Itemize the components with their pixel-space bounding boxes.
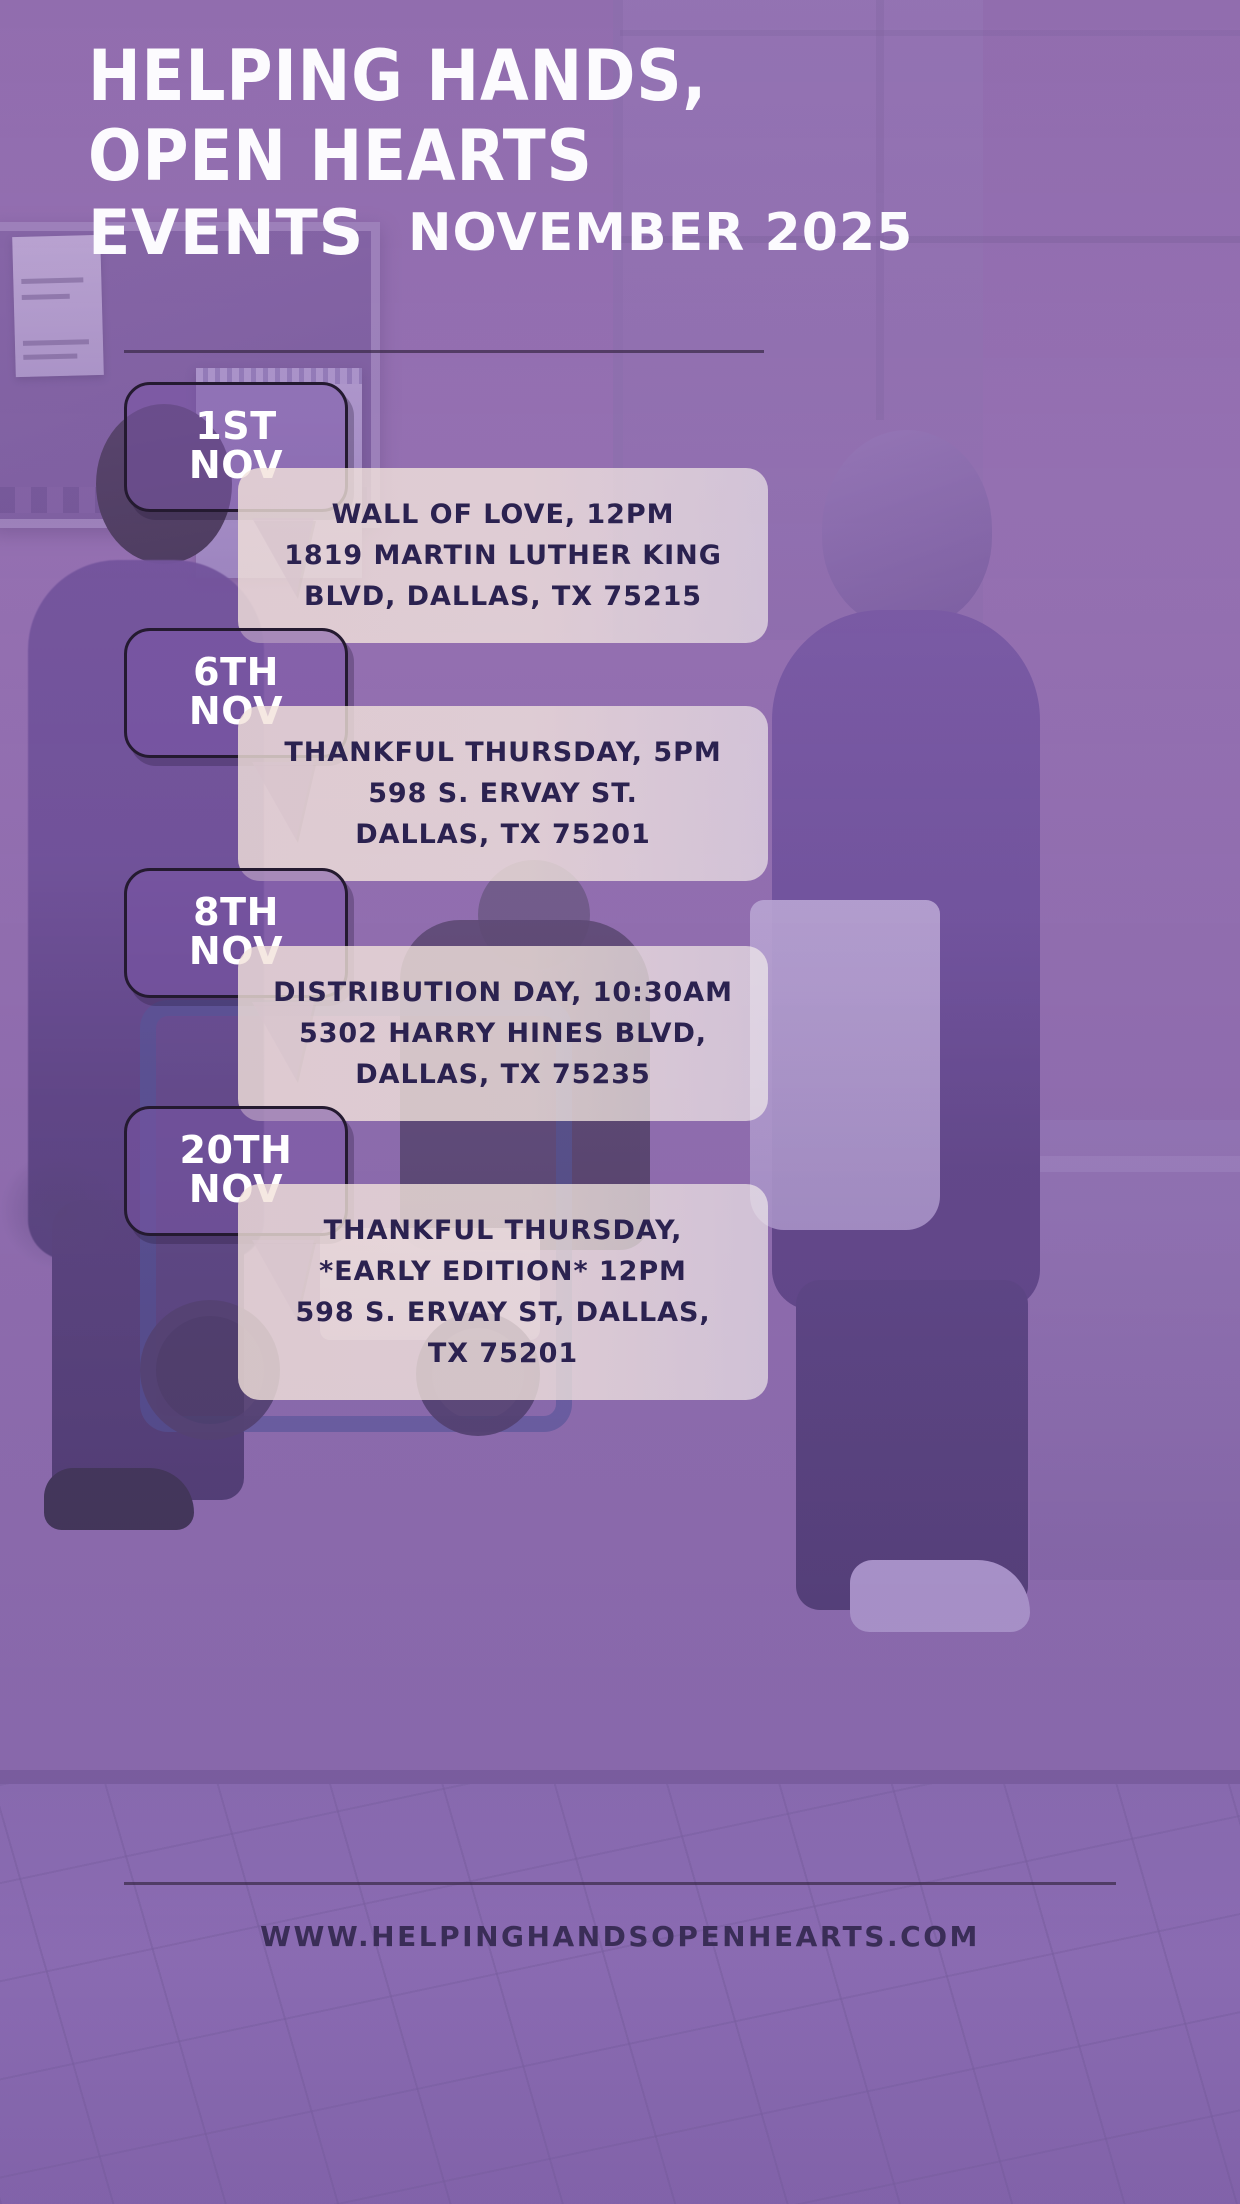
event-1-line-2: 1819 MARTIN LUTHER KING bbox=[272, 535, 734, 576]
event-card-1: WALL OF LOVE, 12PM 1819 MARTIN LUTHER KI… bbox=[238, 468, 768, 643]
event-card-4: THANKFUL THURSDAY, *EARLY EDITION* 12PM … bbox=[238, 1184, 768, 1400]
month-year-label: NOVEMBER 2025 bbox=[408, 209, 913, 262]
event-2-line-3: DALLAS, TX 75201 bbox=[272, 814, 734, 855]
event-4-line-2: *EARLY EDITION* 12PM bbox=[272, 1251, 734, 1292]
date-bubble-2-day: 6TH bbox=[193, 650, 279, 694]
event-card-3: DISTRIBUTION DAY, 10:30AM 5302 HARRY HIN… bbox=[238, 946, 768, 1121]
poster-title-block: HELPING HANDS, OPEN HEARTS EVENTS NOVEMB… bbox=[88, 44, 1148, 262]
event-flyer-poster: HELPING HANDS, OPEN HEARTS EVENTS NOVEMB… bbox=[0, 0, 1240, 2204]
event-4-line-4: TX 75201 bbox=[272, 1333, 734, 1374]
date-bubble-4-day: 20TH bbox=[180, 1128, 293, 1172]
title-line-3-row: EVENTS NOVEMBER 2025 bbox=[88, 204, 1148, 262]
event-1-line-3: BLVD, DALLAS, TX 75215 bbox=[272, 576, 734, 617]
website-footer: WWW.HELPINGHANDSOPENHEARTS.COM bbox=[0, 1920, 1240, 1953]
divider-top bbox=[124, 350, 764, 353]
event-1-line-1: WALL OF LOVE, 12PM bbox=[272, 494, 734, 535]
event-4-line-3: 598 S. ERVAY ST, DALLAS, bbox=[272, 1292, 734, 1333]
divider-bottom bbox=[124, 1882, 1116, 1885]
event-2-line-2: 598 S. ERVAY ST. bbox=[272, 773, 734, 814]
date-bubble-1-day: 1ST bbox=[195, 404, 276, 448]
event-2-line-1: THANKFUL THURSDAY, 5PM bbox=[272, 732, 734, 773]
date-bubble-3-day: 8TH bbox=[193, 890, 279, 934]
event-card-2: THANKFUL THURSDAY, 5PM 598 S. ERVAY ST. … bbox=[238, 706, 768, 881]
title-line-3: EVENTS bbox=[88, 204, 364, 262]
title-line-1: HELPING HANDS, bbox=[88, 44, 1148, 110]
event-3-line-2: 5302 HARRY HINES BLVD, bbox=[272, 1013, 734, 1054]
poster-content: HELPING HANDS, OPEN HEARTS EVENTS NOVEMB… bbox=[0, 0, 1240, 2204]
event-3-line-1: DISTRIBUTION DAY, 10:30AM bbox=[272, 972, 734, 1013]
title-line-2: OPEN HEARTS bbox=[88, 124, 1148, 190]
event-3-line-3: DALLAS, TX 75235 bbox=[272, 1054, 734, 1095]
event-4-line-1: THANKFUL THURSDAY, bbox=[272, 1210, 734, 1251]
